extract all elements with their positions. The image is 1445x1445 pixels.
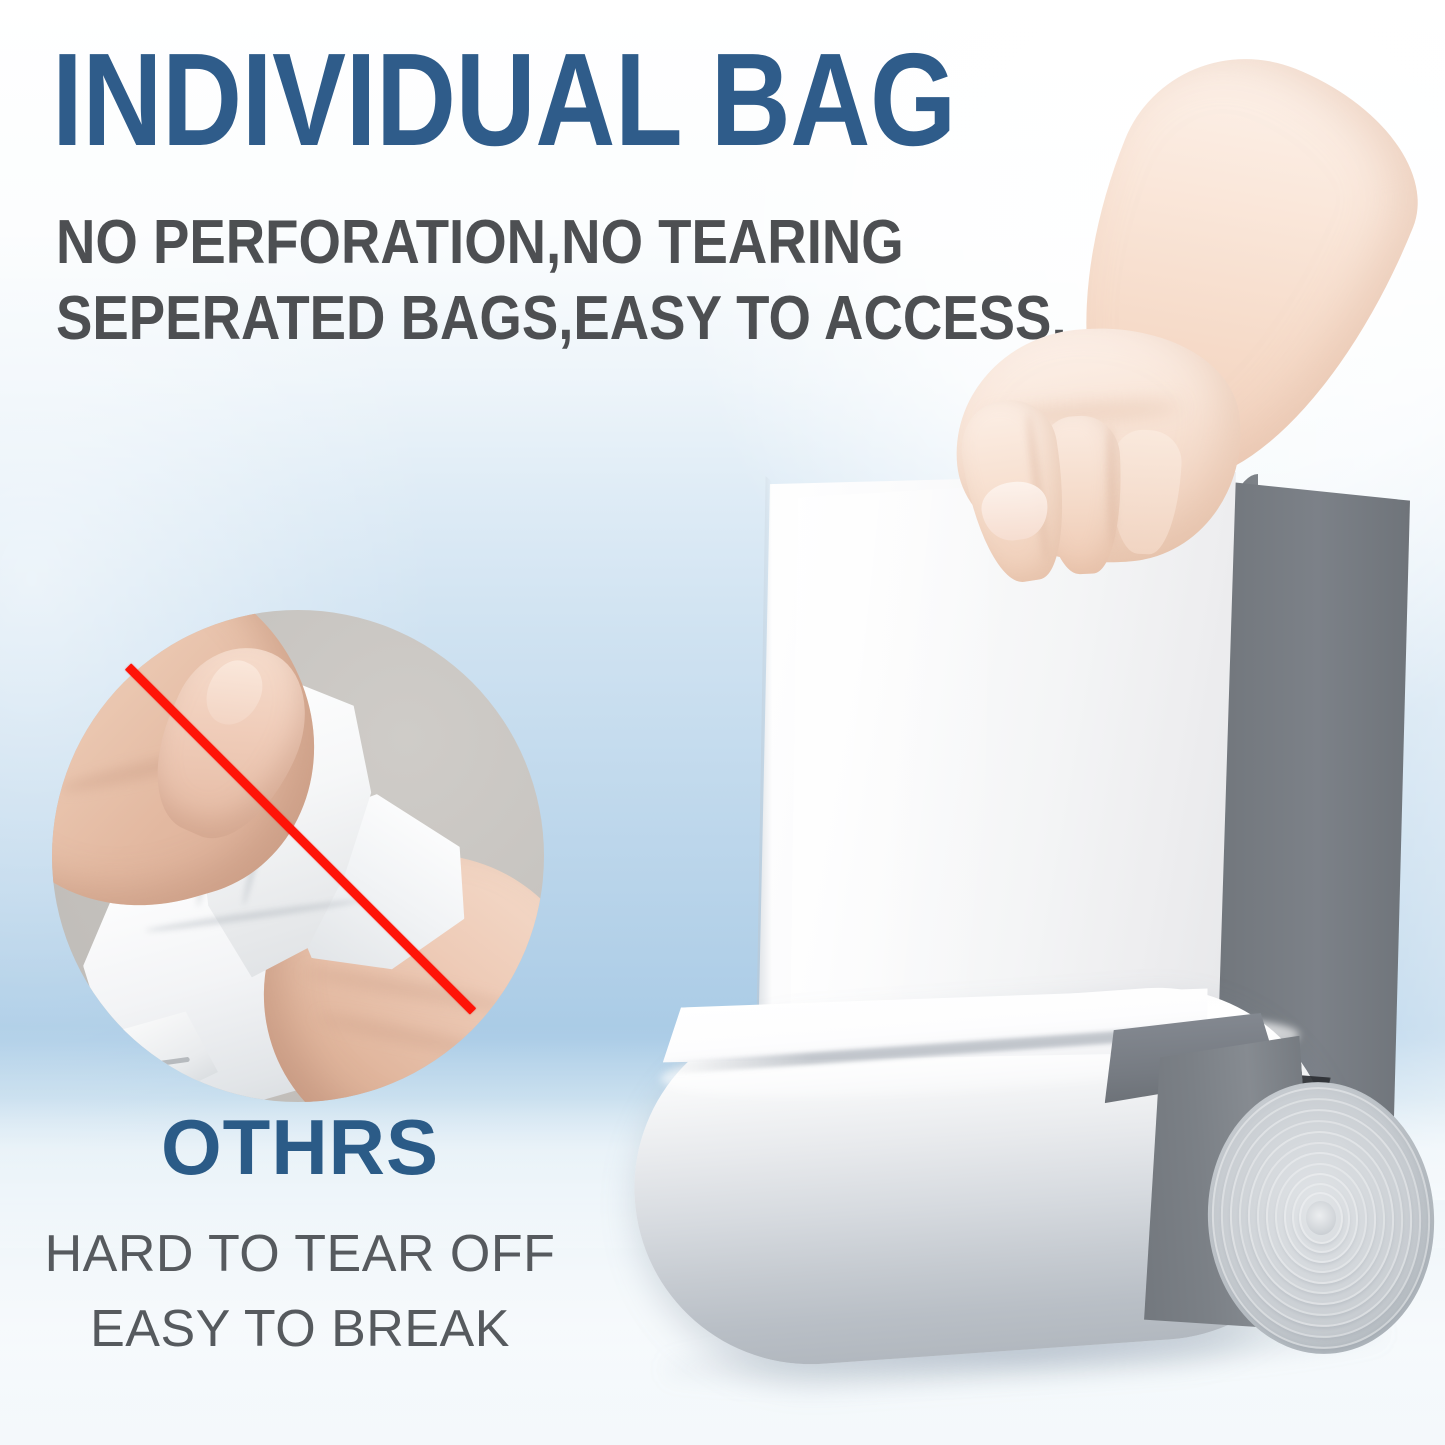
comparison-line-2: EASY TO BREAK [0, 1303, 600, 1355]
page-title: INDIVIDUAL BAG [52, 34, 956, 166]
comparison-photo-inset [52, 610, 544, 1102]
product-infographic: INDIVIDUAL BAG NO PERFORATION,NO TEARING… [0, 0, 1445, 1445]
hands-tearing-bag-photo [52, 610, 544, 1102]
comparison-title: OTHRS [0, 1108, 600, 1186]
subtitle-line-2: SEPERATED BAGS,EASY TO ACCESS, [56, 288, 1067, 350]
subtitle-line-1: NO PERFORATION,NO TEARING [56, 212, 904, 274]
comparison-line-1: HARD TO TEAR OFF [0, 1228, 600, 1280]
